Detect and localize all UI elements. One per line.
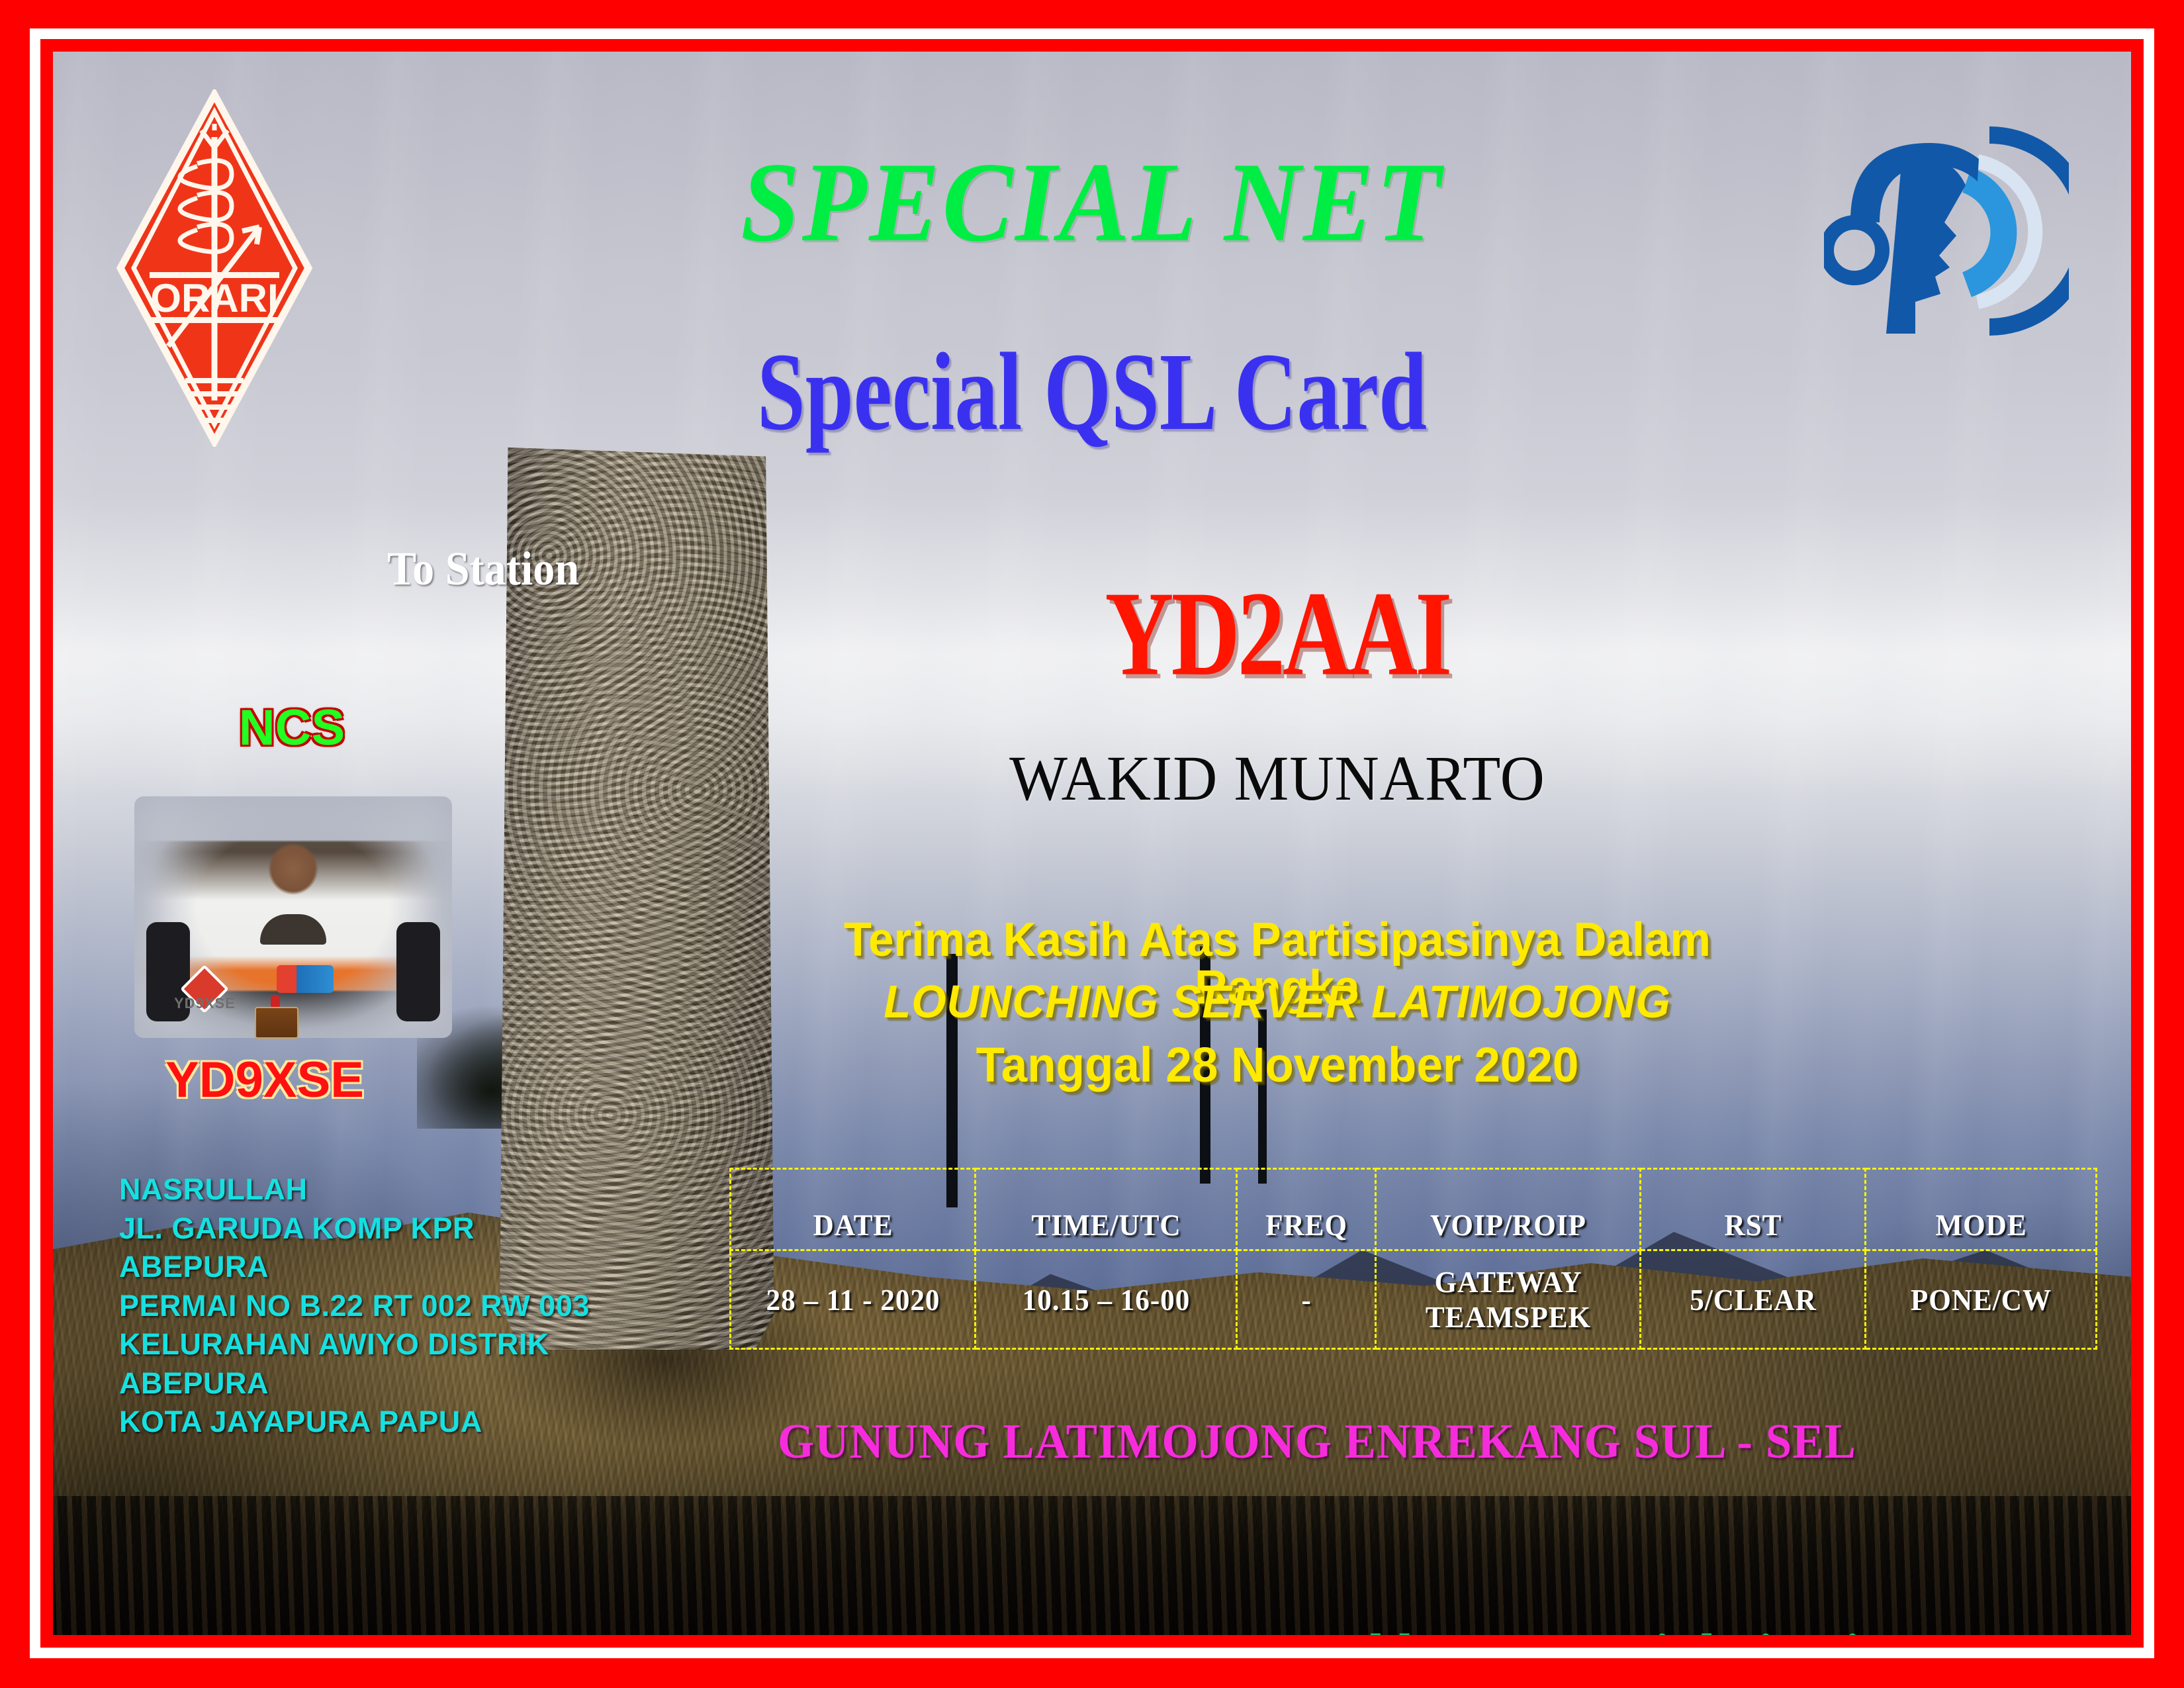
ncs-callsign: YD9XSE <box>126 1051 404 1109</box>
photo-sleeve-right <box>396 922 440 1021</box>
cell-voip-line-1: GATEWAY <box>1387 1264 1629 1299</box>
orari-logo-text: ORARI <box>151 276 279 320</box>
footer-slogan: "AMATIR RADIO ADALAH PROGRESIVE" <box>131 1624 1124 1635</box>
to-station-label: To Station <box>387 541 579 596</box>
address-line: ABEPURA <box>119 1364 682 1403</box>
photo-shirt-callsign: YD9XSE <box>174 995 236 1012</box>
cell-time: 10.15 – 16-00 <box>983 1250 1228 1349</box>
cell-date: 28 – 11 - 2020 <box>738 1250 968 1349</box>
address-block: NASRULLAH JL. GARUDA KOMP KPR ABEPURA PE… <box>119 1170 682 1442</box>
address-line: ABEPURA <box>119 1248 682 1287</box>
cell-voip-line-2: TEAMSPEK <box>1387 1299 1629 1335</box>
station-callsign: YD2AAI <box>852 573 1703 694</box>
cell-voip: GATEWAY TEAMSPEK <box>1384 1250 1633 1349</box>
photo-id-card <box>255 1007 298 1039</box>
page-title: SPECIAL NET <box>126 146 2058 259</box>
card-white-frame: ORARI <box>30 28 2154 1658</box>
address-line: KELURAHAN AWIYO DISTRIK <box>119 1325 682 1364</box>
column-header-mode: MODE <box>1872 1169 2089 1250</box>
photo-club-patch <box>277 965 334 993</box>
operator-name: WAKID MUNARTO <box>847 747 1707 810</box>
thanks-line-3: Tanggal 28 November 2020 <box>769 1041 1786 1090</box>
column-header-time: TIME/UTC <box>983 1169 1228 1250</box>
ncs-label: NCS <box>183 699 401 757</box>
column-header-voip: VOIP/ROIP <box>1384 1169 1633 1250</box>
column-header-date: DATE <box>738 1169 968 1250</box>
footer-website-address: Address : amatir.latimojong.com <box>1317 1622 2046 1635</box>
qsl-card: ORARI <box>0 0 2184 1688</box>
qso-log-table: DATE TIME/UTC FREQ VOIP/ROIP RST MODE 28… <box>729 1168 2097 1350</box>
thanks-line-2: LOUNCHING SERVER LATIMOJONG <box>769 978 1786 1025</box>
operator-photo: YD9XSE <box>134 796 452 1038</box>
cell-mode: PONE/CW <box>1872 1250 2089 1349</box>
column-header-freq: FREQ <box>1241 1169 1371 1250</box>
photo-head <box>260 914 326 945</box>
cell-freq: - <box>1241 1250 1371 1349</box>
location-label: GUNUNG LATIMOJONG ENREKANG SUL - SEL <box>726 1414 1908 1470</box>
table-header-row: DATE TIME/UTC FREQ VOIP/ROIP RST MODE <box>731 1169 2097 1250</box>
page-subtitle: Special QSL Card <box>281 336 1902 447</box>
card-inner-red-frame: ORARI <box>40 39 2144 1648</box>
address-line: NASRULLAH <box>119 1170 682 1209</box>
address-line: JL. GARUDA KOMP KPR <box>119 1209 682 1248</box>
card-photograph: ORARI <box>53 52 2131 1635</box>
address-line: KOTA JAYAPURA PAPUA <box>119 1403 682 1442</box>
table-row: 28 – 11 - 2020 10.15 – 16-00 - GATEWAY T… <box>731 1250 2097 1349</box>
address-line: PERMAI NO B.22 RT 002 RW 003 <box>119 1287 682 1326</box>
column-header-rst: RST <box>1647 1169 1859 1250</box>
card-content: ORARI <box>53 52 2131 1635</box>
cell-rst: 5/CLEAR <box>1647 1250 1859 1349</box>
